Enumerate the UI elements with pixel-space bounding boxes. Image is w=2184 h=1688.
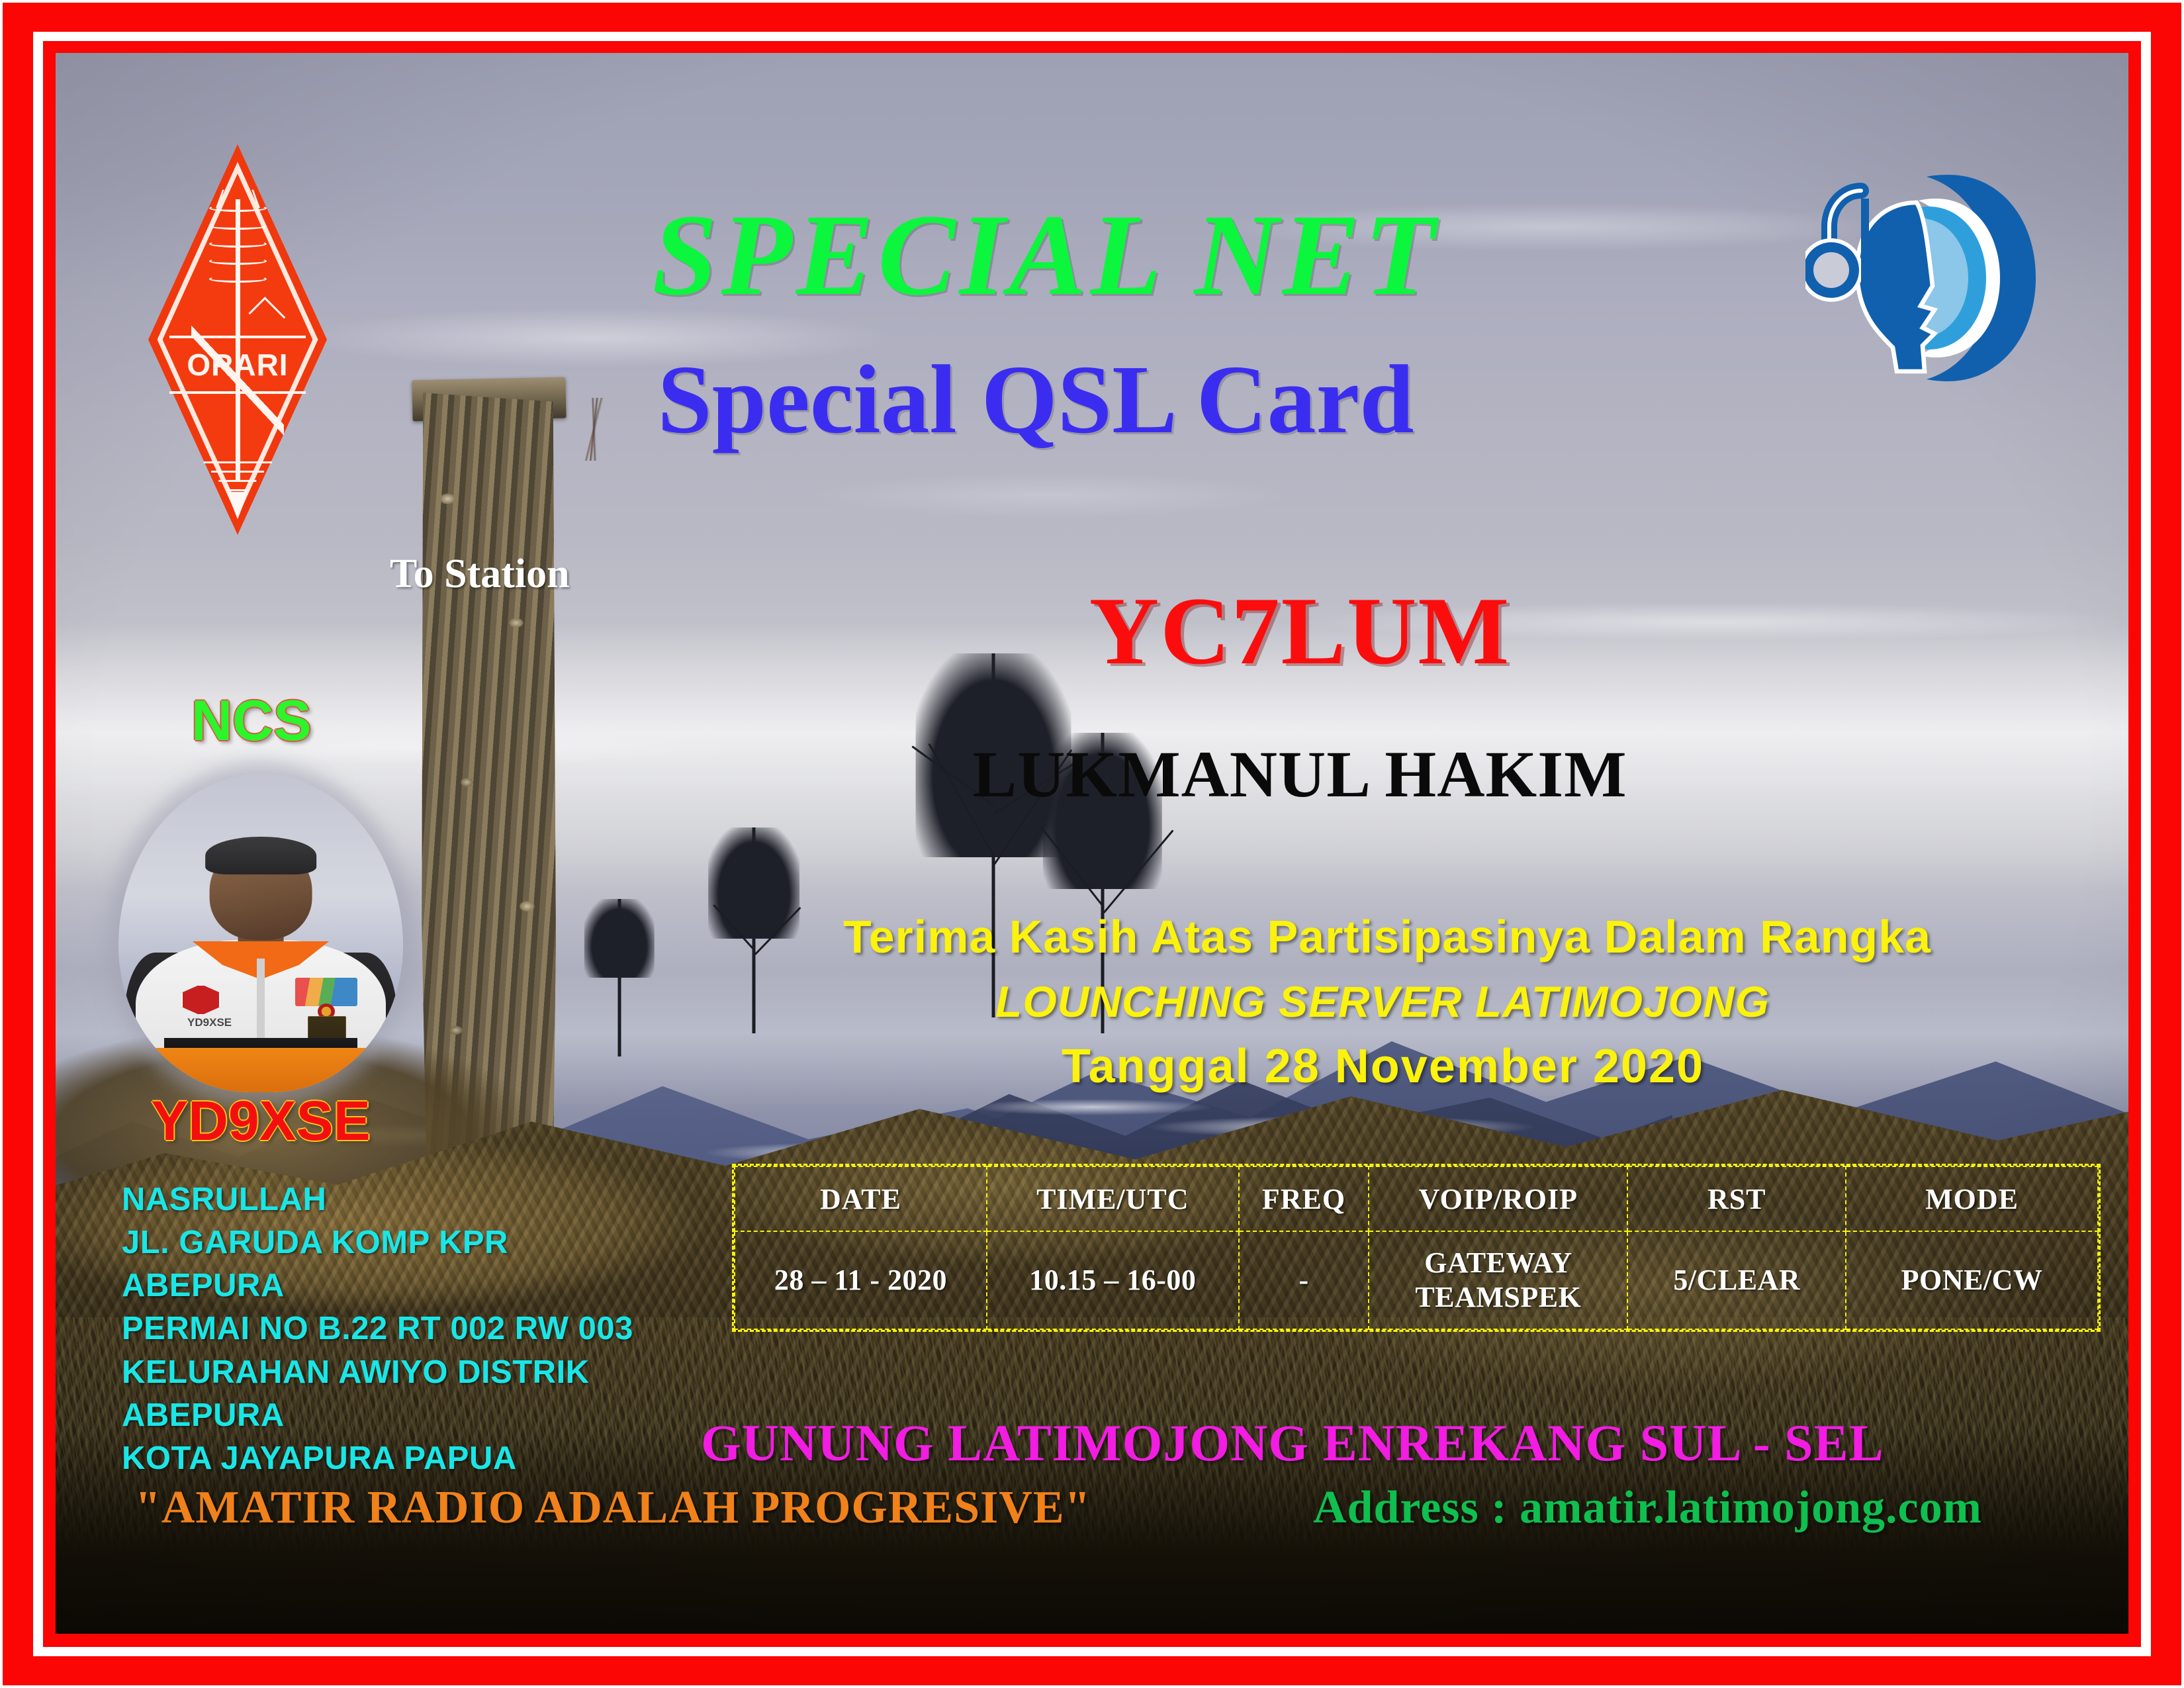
column-header-date: DATE: [735, 1166, 987, 1231]
page-subtitle: Special QSL Card: [56, 351, 2128, 449]
uniform-patch: [295, 978, 358, 1006]
to-station-label: To Station: [390, 551, 570, 598]
qso-table: DATE TIME/UTC FREQ VOIP/ROIP RST MODE 28…: [732, 1164, 2101, 1332]
event-thanks-line: Terima Kasih Atas Partisipasinya Dalam R…: [843, 914, 1931, 960]
column-header-time: TIME/UTC: [987, 1166, 1239, 1231]
cell-date: 28 – 11 - 2020: [735, 1231, 987, 1329]
address-line: KOTA JAYAPURA PAPUA: [122, 1437, 633, 1480]
table-row: 28 – 11 - 2020 10.15 – 16-00 - GATEWAY T…: [735, 1231, 2098, 1329]
cell-voip: GATEWAY TEAMSPEK: [1369, 1231, 1627, 1329]
event-name-line: LOUNCHING SERVER LATIMOJONG: [995, 980, 1770, 1023]
cell-voip-line1: GATEWAY: [1369, 1246, 1627, 1280]
ncs-callsign: YD9XSE: [142, 1089, 380, 1153]
address-line: ABEPURA: [122, 1264, 633, 1307]
station-address: NASRULLAH JL. GARUDA KOMP KPR ABEPURA PE…: [122, 1178, 633, 1480]
footer-motto: "AMATIR RADIO ADALAH PROGRESIVE": [135, 1481, 1091, 1534]
address-line: KELURAHAN AWIYO DISTRIK: [122, 1351, 633, 1394]
uniform-callsign-text: YD9XSE: [164, 1016, 255, 1029]
station-callsign: YC7LUM: [909, 583, 1690, 679]
location-line: GUNUNG LATIMOJONG ENREKANG SUL - SEL: [701, 1413, 1884, 1473]
table-header-row: DATE TIME/UTC FREQ VOIP/ROIP RST MODE: [735, 1166, 2098, 1231]
column-header-mode: MODE: [1846, 1166, 2098, 1231]
cell-voip-line2: TEAMSPEK: [1369, 1280, 1627, 1315]
column-header-freq: FREQ: [1239, 1166, 1369, 1231]
address-line: JL. GARUDA KOMP KPR: [122, 1221, 633, 1264]
page-title: SPECIAL NET: [56, 197, 2128, 314]
column-header-rst: RST: [1627, 1166, 1846, 1231]
background-photograph: ORARI SPEC: [56, 53, 2128, 1634]
footer-web-address: Address : amatir.latimojong.com: [1313, 1481, 1982, 1534]
ncs-operator-photo: YD9XSE: [118, 774, 403, 1092]
cell-time: 10.15 – 16-00: [987, 1231, 1239, 1329]
cell-mode: PONE/CW: [1846, 1231, 2098, 1329]
address-line: ABEPURA: [122, 1394, 633, 1437]
cell-rst: 5/CLEAR: [1627, 1231, 1846, 1329]
operator-name: LUKMANUL HAKIM: [843, 741, 1756, 808]
qsl-card: ORARI SPEC: [0, 0, 2184, 1688]
address-line: NASRULLAH: [122, 1178, 633, 1221]
event-date-line: Tanggal 28 November 2020: [1062, 1043, 1704, 1090]
cell-freq: -: [1239, 1231, 1369, 1329]
address-line: PERMAI NO B.22 RT 002 RW 003: [122, 1307, 633, 1350]
ncs-label: NCS: [191, 688, 312, 754]
column-header-voip: VOIP/ROIP: [1369, 1166, 1627, 1231]
